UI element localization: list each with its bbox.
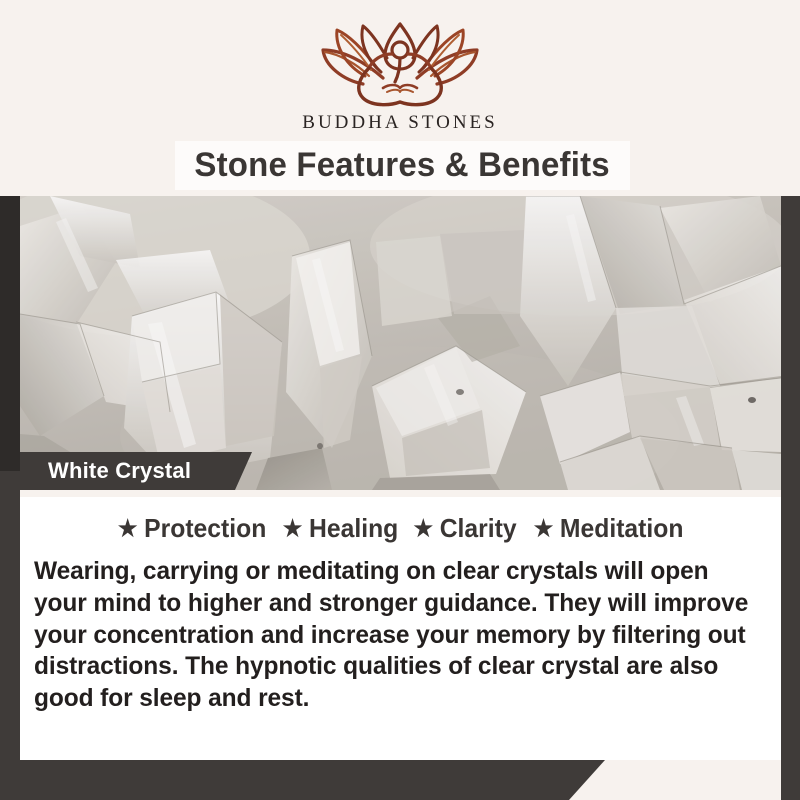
- benefit-label: Healing: [309, 513, 398, 544]
- border-strip-left-photo: [0, 196, 20, 471]
- stone-name-banner: White Crystal: [20, 452, 252, 490]
- benefit-label: Protection: [144, 513, 266, 544]
- benefit-clarity: ★ Clarity: [404, 513, 517, 544]
- benefit-label: Clarity: [440, 513, 517, 544]
- star-icon: ★: [117, 517, 137, 540]
- star-icon: ★: [414, 517, 434, 540]
- brand-name: BUDDHA STONES: [0, 112, 800, 134]
- star-icon: ★: [283, 517, 303, 540]
- benefits-row: ★ Protection ★ Healing ★ Clarity ★ Medit…: [20, 497, 781, 544]
- content-panel: ★ Protection ★ Healing ★ Clarity ★ Medit…: [20, 497, 781, 760]
- benefit-meditation: ★ Meditation: [524, 513, 683, 544]
- brand-logo: BUDDHA STONES: [0, 22, 800, 134]
- border-strip-left: [0, 470, 20, 760]
- crystal-cluster-image: [20, 196, 781, 490]
- benefit-label: Meditation: [560, 513, 683, 544]
- star-icon: ★: [534, 517, 554, 540]
- stone-name-label: White Crystal: [20, 458, 191, 484]
- infographic-card: BUDDHA STONES Stone Features & Benefits: [0, 0, 800, 800]
- lotus-meditation-figure-icon: [0, 22, 800, 108]
- stone-photo: [20, 196, 781, 490]
- corner-decoration-bottom-left: [0, 760, 605, 800]
- title-banner: Stone Features & Benefits: [175, 141, 630, 190]
- benefit-healing: ★ Healing: [273, 513, 398, 544]
- description-text: Wearing, carrying or meditating on clear…: [34, 556, 752, 715]
- benefit-protection: ★ Protection: [117, 513, 265, 544]
- page-title: Stone Features & Benefits: [195, 146, 610, 185]
